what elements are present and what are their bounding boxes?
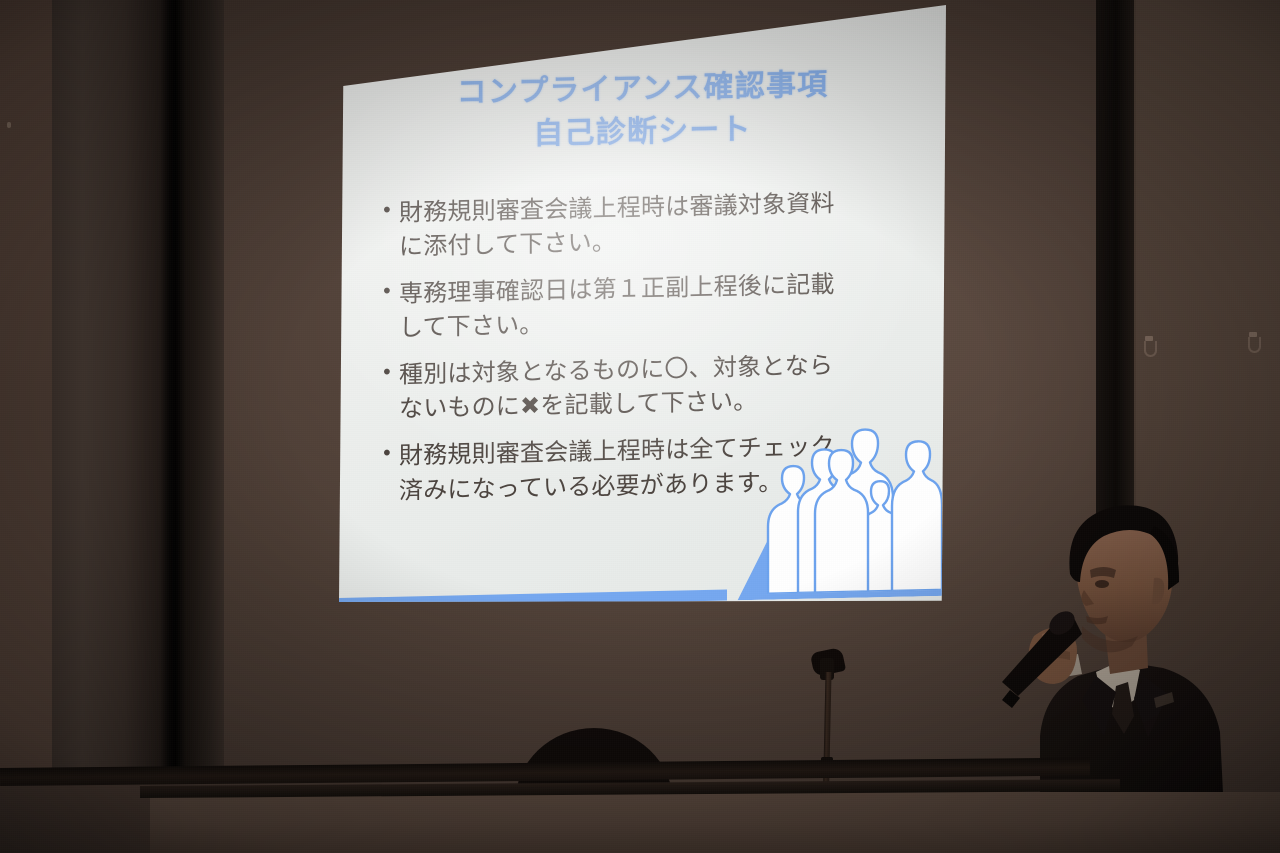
wall-nail — [7, 122, 11, 128]
people-silhouettes-graphic — [752, 405, 942, 594]
list-item-text: 専務理事確認日は第１正副上程後に記載 して下さい。 — [399, 265, 924, 345]
stage-curtain-right — [1096, 0, 1136, 520]
slide-title-line-2: 自己診断シート — [339, 104, 946, 160]
slide-surface: コンプライアンス確認事項 自己診断シート • 財務規則審査会議上程時は審議対象資… — [339, 2, 946, 602]
bullet-marker-icon: • — [381, 196, 399, 226]
list-item: • 専務理事確認日は第１正副上程後に記載 して下さい。 — [381, 265, 924, 345]
wall-hook-icon — [1144, 341, 1157, 357]
bullet-marker-icon: • — [381, 358, 399, 388]
wall-hook-icon — [1248, 337, 1261, 353]
stage-curtain-left — [52, 0, 224, 775]
slide-title-line-1: コンプライアンス確認事項 — [457, 67, 829, 110]
list-item: • 財務規則審査会議上程時は審議対象資料 に添付して下さい。 — [381, 184, 924, 264]
projection-screen: コンプライアンス確認事項 自己診断シート • 財務規則審査会議上程時は審議対象資… — [339, 2, 946, 602]
list-item-text: 財務規則審査会議上程時は審議対象資料 に添付して下さい。 — [399, 184, 924, 264]
slide-accent-band — [339, 590, 727, 602]
lower-wall — [0, 792, 1280, 853]
bullet-marker-icon: • — [381, 277, 399, 307]
slide-title: コンプライアンス確認事項 自己診断シート — [339, 62, 946, 160]
presentation-room-scene: コンプライアンス確認事項 自己診断シート • 財務規則審査会議上程時は審議対象資… — [0, 0, 1280, 853]
lower-wall-left — [0, 780, 150, 853]
bullet-marker-icon: • — [381, 439, 399, 469]
left-wall-panel — [0, 0, 58, 770]
